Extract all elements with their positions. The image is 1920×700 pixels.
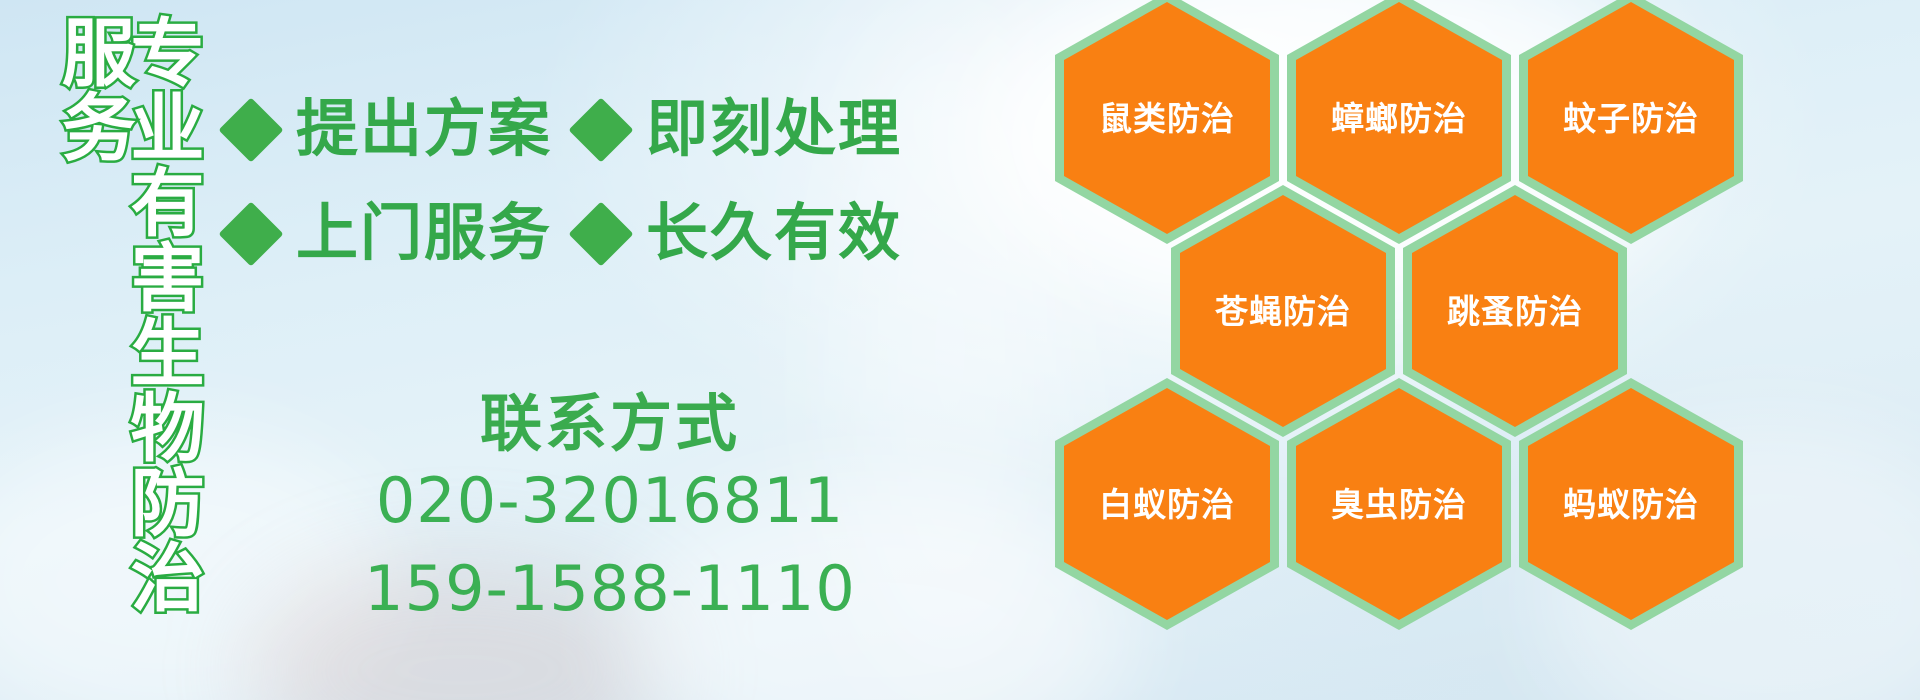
phone-number-mobile[interactable]: 159-1588-1110	[290, 545, 930, 633]
contact-block: 联系方式 020-32016811 159-1588-1110	[290, 392, 930, 633]
phone-number-landline[interactable]: 020-32016811	[290, 457, 930, 545]
service-label: 白蚁防治	[1099, 488, 1235, 521]
feature-label: 上门服务	[296, 203, 552, 265]
contact-title: 联系方式	[290, 392, 930, 457]
service-label: 苍蝇防治	[1215, 295, 1351, 328]
hex-inner: 跳蚤防治	[1412, 195, 1618, 427]
feature-row: 上门服务 长久有效	[228, 182, 868, 286]
feature-item: 即刻处理	[578, 99, 902, 161]
hex-inner: 蚂蚁防治	[1528, 388, 1734, 620]
hex-inner: 蟑螂防治	[1296, 2, 1502, 234]
diamond-icon	[218, 201, 283, 266]
hex-inner: 苍蝇防治	[1180, 195, 1386, 427]
vertical-headline: 专业有害生物防治服务	[103, 14, 195, 674]
service-label: 蟑螂防治	[1331, 102, 1467, 135]
diamond-icon	[568, 97, 633, 162]
service-label: 蚂蚁防治	[1563, 488, 1699, 521]
diamond-icon	[218, 97, 283, 162]
hex-inner: 蚊子防治	[1528, 2, 1734, 234]
feature-row: 提出方案 即刻处理	[228, 78, 868, 182]
feature-item: 上门服务	[228, 203, 552, 265]
promo-banner: 专业有害生物防治服务 提出方案 即刻处理 上门服务 长久有效	[0, 0, 1920, 700]
service-hex-grid: 鼠类防治 蟑螂防治 蚊子防治 苍蝇防治 跳蚤防治 白蚁防治	[1055, 0, 1815, 700]
hex-inner: 白蚁防治	[1064, 388, 1270, 620]
feature-list: 提出方案 即刻处理 上门服务 长久有效	[228, 78, 868, 286]
feature-item: 提出方案	[228, 99, 552, 161]
feature-label: 提出方案	[296, 99, 552, 161]
service-label: 蚊子防治	[1563, 102, 1699, 135]
service-label: 鼠类防治	[1099, 102, 1235, 135]
diamond-icon	[568, 201, 633, 266]
service-label: 跳蚤防治	[1447, 295, 1583, 328]
service-label: 臭虫防治	[1331, 488, 1467, 521]
feature-label: 长久有效	[646, 203, 902, 265]
feature-label: 即刻处理	[646, 99, 902, 161]
feature-item: 长久有效	[578, 203, 902, 265]
hex-inner: 臭虫防治	[1296, 388, 1502, 620]
hex-inner: 鼠类防治	[1064, 2, 1270, 234]
